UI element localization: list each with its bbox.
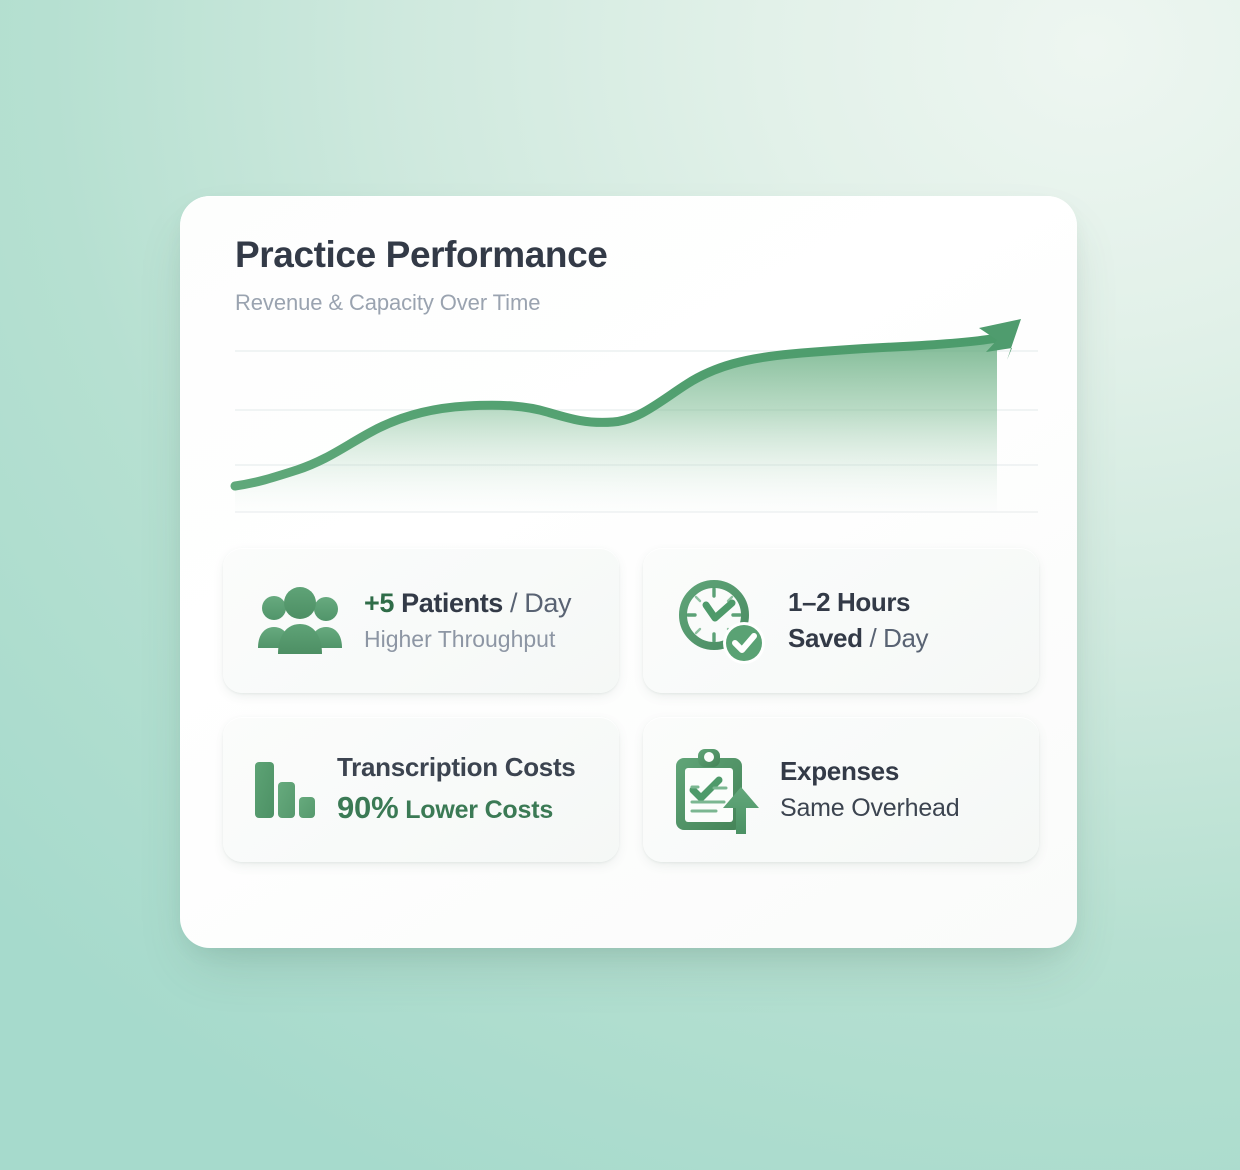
stat-text: 1–2 Hours Saved / Day (788, 587, 928, 653)
revenue-capacity-area-chart (235, 336, 1038, 521)
stat-value-label: Saved (788, 623, 863, 653)
stat-card-patients[interactable]: +5 Patients / Day Higher Throughput (223, 548, 619, 693)
page-title: Practice Performance (235, 236, 607, 275)
stat-card-hours-saved[interactable]: 1–2 Hours Saved / Day (643, 548, 1039, 693)
card-header: Practice Performance Revenue & Capacity … (235, 236, 607, 316)
practice-performance-card: Practice Performance Revenue & Capacity … (180, 196, 1077, 948)
stat-value-period: / Day (510, 588, 571, 618)
chart-svg (235, 336, 1038, 521)
stat-text: +5 Patients / Day Higher Throughput (364, 588, 571, 653)
stat-value-label: Lower Costs (405, 796, 553, 824)
stat-value-period: / Day (869, 623, 928, 653)
stat-line-secondary: 90% Lower Costs (337, 790, 575, 827)
clipboard-check-arrow-icon (670, 744, 762, 836)
stat-line-primary: Expenses (780, 756, 959, 787)
stat-text: Transcription Costs 90% Lower Costs (337, 752, 575, 826)
stat-value-unit: Patients (401, 588, 503, 618)
stat-line-secondary: Same Overhead (780, 794, 959, 824)
stat-value-percent: 90% (337, 790, 398, 825)
stat-value-delta: +5 (364, 588, 394, 618)
descending-bars-icon (253, 754, 319, 826)
stat-card-expenses[interactable]: Expenses Same Overhead (643, 717, 1039, 862)
clock-check-icon (676, 577, 768, 665)
stat-line-primary: 1–2 Hours (788, 587, 928, 618)
stat-line-secondary: Saved / Day (788, 623, 928, 654)
stat-line-primary: Transcription Costs (337, 752, 575, 783)
stats-grid: +5 Patients / Day Higher Throughput (223, 548, 1039, 862)
stat-line-secondary: Higher Throughput (364, 626, 571, 653)
stat-text: Expenses Same Overhead (780, 756, 959, 823)
stat-card-transcription-costs[interactable]: Transcription Costs 90% Lower Costs (223, 717, 619, 862)
stat-line-primary: +5 Patients / Day (364, 588, 571, 620)
people-group-icon (256, 586, 344, 656)
card-subtitle: Revenue & Capacity Over Time (235, 290, 607, 316)
